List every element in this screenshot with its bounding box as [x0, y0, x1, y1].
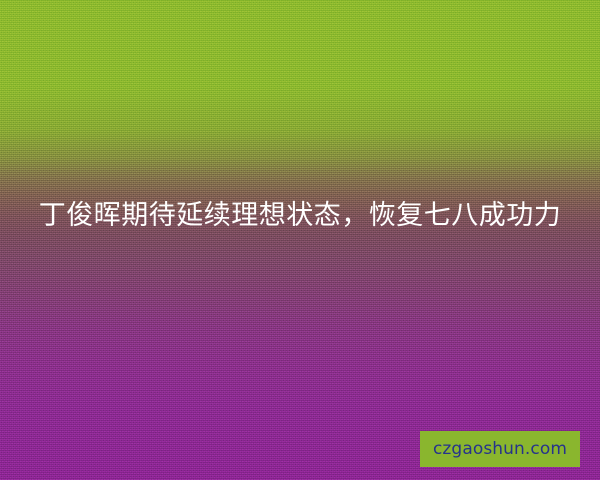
watermark-label: czgaoshun.com — [433, 441, 567, 458]
headline-text: 丁俊晖期待延续理想状态，恢复七八成功力 — [0, 196, 600, 236]
background-gradient — [0, 0, 600, 480]
text-image-card: 丁俊晖期待延续理想状态，恢复七八成功力 czgaoshun.com — [0, 0, 600, 480]
watermark-badge: czgaoshun.com — [420, 431, 580, 467]
